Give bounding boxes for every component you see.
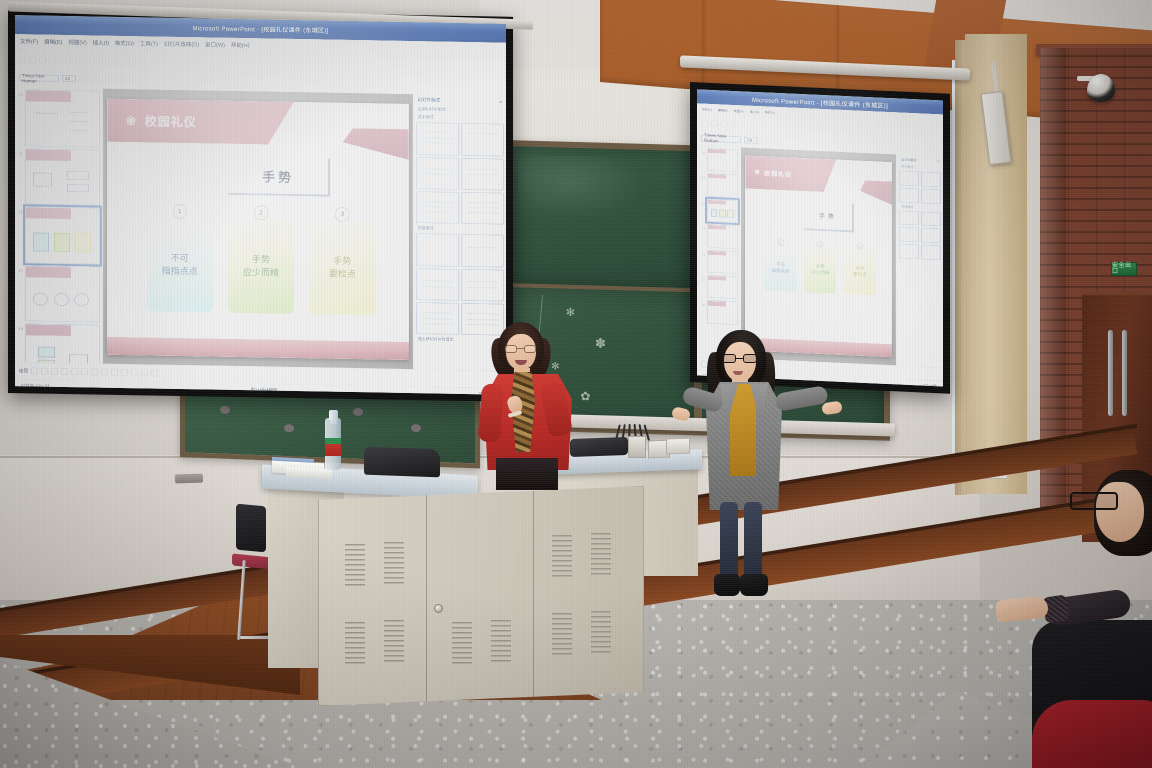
- door-handle-right-icon[interactable]: [1122, 330, 1127, 416]
- card-line-2: 应少而精: [811, 270, 829, 277]
- card-body-blue[interactable]: 不可 指指点点: [147, 217, 213, 312]
- projection-screen-left: Microsoft PowerPoint - [校园礼仪课件 (东城区)] 文件…: [8, 8, 513, 402]
- av-amplifier: [628, 436, 646, 458]
- task-pane-title: 幻灯片版式: [901, 157, 916, 162]
- thumbnail-number: 12: [699, 198, 705, 205]
- redo-icon[interactable]: [751, 122, 758, 129]
- new-file-icon[interactable]: [19, 56, 26, 63]
- thumbnail-number: 13: [17, 265, 23, 273]
- slide-thumbnail-pane[interactable]: 10 11 12: [697, 145, 741, 359]
- card-number-badge: 2: [254, 206, 269, 221]
- layout-option[interactable]: [921, 228, 941, 244]
- card-body-yellow[interactable]: 手势 要检点: [309, 220, 375, 315]
- thumbnail-number: 10: [17, 89, 23, 97]
- magnet-icon: [284, 424, 294, 432]
- rectangle-icon[interactable]: [61, 368, 68, 375]
- menu-item-tools[interactable]: 工具(T): [140, 40, 158, 48]
- cabinet-vent: [345, 622, 365, 664]
- thumbnail-row[interactable]: 11: [699, 173, 738, 198]
- exit-sign-label: 安全出口: [1112, 263, 1136, 275]
- ppt-workspace: 10 11: [15, 87, 506, 370]
- wall-hook-left: [175, 474, 203, 484]
- chalk-flower-icon: ✽: [595, 336, 606, 349]
- cabinet-vent: [591, 533, 611, 575]
- fill-color-icon[interactable]: [131, 369, 138, 376]
- left-leg-jeans: [720, 502, 738, 580]
- menu-item-file[interactable]: 文件(F): [20, 38, 38, 46]
- card-line-2: 指指点点: [162, 264, 198, 278]
- cabinet-vent: [345, 544, 365, 586]
- dark-skirt: [496, 458, 558, 490]
- task-pane-sublabel2-text: 内容版式: [899, 204, 941, 210]
- flower-logo-icon: ❀: [754, 169, 760, 176]
- chair-backrest: [236, 504, 266, 553]
- draw-menu-label[interactable]: 绘图: [19, 368, 28, 374]
- cabinet-vent: [452, 622, 472, 664]
- font-size-input[interactable]: 28: [744, 136, 758, 144]
- insert-chart-icon[interactable]: [139, 58, 146, 65]
- thumb-banner: [708, 250, 726, 255]
- wordart-icon[interactable]: [91, 369, 98, 376]
- chalk-smudge: [518, 155, 646, 224]
- magnet-icon: [220, 405, 230, 413]
- slide-card-1[interactable]: 1 不可 指指点点: [764, 242, 796, 292]
- slide-thumbnail[interactable]: [25, 90, 100, 148]
- thumbnail-row[interactable]: 16: [699, 300, 738, 325]
- cabinet-vent: [591, 611, 611, 653]
- textbox-icon[interactable]: [81, 368, 88, 375]
- thumb-banner: [708, 225, 726, 230]
- card-number-badge: 1: [172, 204, 187, 219]
- thumb-banner: [26, 149, 71, 161]
- cabinet-door-seam-1: [426, 487, 427, 705]
- menu-item-file[interactable]: 文件(F): [702, 108, 712, 112]
- cabinet-vent: [552, 613, 572, 655]
- slide-thumbnail[interactable]: [25, 324, 100, 364]
- thumbnail-number: 14: [17, 324, 23, 332]
- menu-item-insert[interactable]: 插入(I): [93, 39, 109, 47]
- card-line-2: 指指点点: [772, 268, 790, 275]
- slide-thumbnail[interactable]: [25, 265, 100, 323]
- slide-thumbnail[interactable]: [25, 148, 100, 206]
- left-boot: [714, 574, 740, 596]
- underline-icon[interactable]: [99, 76, 106, 83]
- exit-sign: 安全出口: [1111, 262, 1137, 276]
- layout-option[interactable]: [921, 245, 941, 261]
- diagram-icon[interactable]: [101, 369, 108, 376]
- thumb-banner: [708, 149, 726, 154]
- door-handle-left-icon[interactable]: [1108, 330, 1113, 416]
- flower-logo-icon: ❀: [125, 114, 136, 127]
- thumb-block: [67, 184, 89, 193]
- undo-icon[interactable]: [109, 57, 116, 64]
- thumb-banner: [708, 301, 726, 306]
- thumbnail-number: 12: [17, 207, 23, 215]
- close-icon[interactable]: ×: [937, 159, 939, 163]
- paste-icon[interactable]: [99, 57, 106, 64]
- current-slide[interactable]: ❀ 校园礼仪 手势 1 不可: [107, 98, 408, 359]
- slide-corner-swoosh: [860, 180, 892, 205]
- task-pane-section-label: 应用幻灯片版式:: [416, 106, 504, 114]
- layout-grid-text[interactable]: [416, 122, 504, 225]
- eyeglasses-icon: [1070, 492, 1118, 510]
- layout-option[interactable]: [921, 211, 941, 227]
- bullet-list-icon[interactable]: [139, 76, 146, 83]
- thumb-oval: [54, 293, 69, 306]
- new-file-icon[interactable]: [701, 120, 708, 127]
- thumb-banner: [708, 174, 726, 179]
- thumbnail-number: 11: [17, 148, 23, 156]
- menu-item-help[interactable]: 帮助(H): [231, 41, 250, 49]
- layout-option[interactable]: [461, 123, 504, 156]
- thumb-line: [70, 130, 88, 131]
- thumbnail-row[interactable]: 10: [699, 147, 738, 172]
- powerpoint-window-left: Microsoft PowerPoint - [校园礼仪课件 (东城区)] 文件…: [15, 15, 506, 395]
- thumb-block: [67, 171, 89, 181]
- slide-corner-swoosh: [342, 128, 408, 160]
- slide-card-2[interactable]: 2 手势 应少而精: [804, 244, 836, 294]
- layout-option[interactable]: [416, 122, 459, 155]
- thumbnail-row[interactable]: 14: [17, 324, 100, 364]
- right-leg-jeans: [744, 502, 762, 580]
- thumbnail-row[interactable]: 10: [17, 89, 100, 147]
- thumbnail-row[interactable]: 14: [699, 249, 738, 274]
- menu-item-format[interactable]: 格式(O): [765, 111, 775, 115]
- line-color-icon[interactable]: [141, 370, 148, 377]
- layout-option[interactable]: [461, 158, 504, 191]
- slide-thumbnail-pane[interactable]: 10 11: [15, 87, 103, 363]
- card-number-badge: 3: [335, 207, 350, 222]
- insert-table-icon[interactable]: [129, 58, 136, 65]
- oval-icon[interactable]: [71, 368, 78, 375]
- task-pane-title-bar: 幻灯片版式 ×: [416, 96, 504, 106]
- card-body-green[interactable]: 手势 应少而精: [228, 218, 294, 313]
- black-bag: [364, 447, 440, 478]
- font-name-input[interactable]: Times New Roman: [19, 74, 59, 82]
- thumbnail-row[interactable]: 13: [17, 265, 100, 323]
- card-body-green[interactable]: 手势 应少而精: [804, 247, 836, 294]
- slide-layout-task-pane[interactable]: 幻灯片版式 × 文字版式 内容版式: [896, 154, 943, 368]
- clipart-icon[interactable]: [111, 369, 118, 376]
- slide-edit-stage[interactable]: ❀ 校园礼仪 手势 1 不可: [103, 89, 412, 369]
- slide-card-1[interactable]: 1 不可 指指点点: [147, 212, 213, 313]
- menu-item-edit[interactable]: 编辑(E): [718, 108, 728, 112]
- layout-option[interactable]: [921, 171, 941, 187]
- slide-thumbnail[interactable]: [707, 275, 738, 300]
- eyeglasses-icon: [722, 354, 758, 363]
- task-pane-sublabel-text: 文字版式: [899, 164, 941, 170]
- slide-thumbnail[interactable]: [707, 148, 738, 173]
- spellcheck-icon[interactable]: [69, 57, 76, 64]
- font-size-input[interactable]: 28: [62, 75, 76, 82]
- layout-option[interactable]: [921, 188, 941, 204]
- task-pane-sublabel-text: 文字版式: [416, 114, 504, 122]
- menu-item-slideshow[interactable]: 幻灯片放映(D): [164, 40, 199, 49]
- layout-option[interactable]: [416, 302, 459, 335]
- cut-icon[interactable]: [79, 57, 86, 64]
- thumb-node: [38, 347, 56, 358]
- slide-title-text: 手势: [262, 166, 294, 186]
- shadow-icon[interactable]: [109, 76, 116, 83]
- slide-header-banner: ❀ 校园礼仪: [745, 155, 836, 192]
- podium-cabinet: [318, 486, 644, 706]
- card-line-1: 手势: [243, 253, 279, 267]
- ppt-title-text: Microsoft PowerPoint - [校园礼仪课件 (东城区)]: [192, 23, 328, 34]
- layout-option[interactable]: [461, 234, 504, 267]
- thumbnail-row[interactable]: 15: [699, 274, 738, 299]
- copy-icon[interactable]: [89, 57, 96, 64]
- thumbnail-number: 15: [699, 274, 705, 281]
- chalk-flower-icon: ✿: [580, 390, 590, 402]
- italic-icon[interactable]: [89, 75, 96, 82]
- card-body-blue[interactable]: 不可 指指点点: [764, 245, 796, 292]
- open-file-icon[interactable]: [29, 56, 36, 63]
- menu-item-view[interactable]: 视图(V): [68, 38, 86, 46]
- card-line-2: 要检点: [329, 267, 356, 281]
- cabinet-vent: [384, 542, 404, 584]
- thumb-line: [36, 113, 58, 114]
- layout-option[interactable]: [899, 187, 919, 203]
- card-body-yellow[interactable]: 手势 要检点: [844, 248, 876, 295]
- slide-card-3[interactable]: 3 手势 要检点: [844, 246, 876, 296]
- arrow-icon[interactable]: [51, 368, 58, 375]
- thumb-line: [70, 112, 88, 113]
- cabinet-door-seam-2: [533, 487, 534, 705]
- save-icon[interactable]: [39, 56, 46, 63]
- print-icon[interactable]: [731, 121, 738, 128]
- presenter-instructor: [482, 322, 578, 482]
- cabinet-vent: [552, 535, 572, 577]
- slide-thumbnail[interactable]: [707, 249, 738, 274]
- slide-title-box[interactable]: 手势: [228, 157, 330, 197]
- dome-camera-icon: [1087, 74, 1115, 102]
- menu-item-format[interactable]: 格式(O): [115, 39, 134, 47]
- thumb-oval: [33, 293, 48, 306]
- print-preview-icon[interactable]: [59, 56, 66, 63]
- status-language: 中文(中国): [923, 384, 937, 386]
- bold-icon[interactable]: [79, 75, 86, 82]
- right-boot: [740, 574, 768, 596]
- layout-grid-text[interactable]: [899, 170, 941, 204]
- chalkboard-panel-1: [511, 146, 694, 288]
- thumb-banner: [26, 266, 71, 278]
- italic-icon[interactable]: [771, 137, 778, 144]
- align-left-icon[interactable]: [119, 76, 126, 83]
- layout-option[interactable]: [899, 244, 919, 260]
- slide-card-group: 1 不可 指指点点 2: [147, 212, 376, 339]
- card-line-2: 要检点: [853, 272, 867, 279]
- align-center-icon[interactable]: [129, 76, 136, 83]
- thumb-banner: [26, 325, 71, 337]
- cabinet-vent: [491, 620, 511, 662]
- slide-thumbnail[interactable]: [707, 224, 738, 249]
- menu-item-insert[interactable]: 插入(I): [750, 110, 759, 114]
- audience-red-garment: [1032, 700, 1152, 768]
- thumb-card-green: [54, 233, 70, 252]
- presenter-demonstrator: [686, 330, 836, 620]
- lecture-hall-photo: 安全出口 ✻ ✽ ✻ ✿: [0, 0, 1152, 768]
- bold-icon[interactable]: [761, 137, 768, 144]
- picture-icon[interactable]: [121, 369, 128, 376]
- menu-item-view[interactable]: 视图(V): [734, 109, 744, 113]
- thumb-banner: [708, 276, 726, 281]
- layout-option[interactable]: [461, 192, 504, 225]
- layout-option[interactable]: [416, 157, 459, 190]
- cabinet-lock-icon[interactable]: [434, 604, 443, 613]
- slide-thumbnail-selected[interactable]: [25, 207, 100, 265]
- slide-header-banner: ❀ 校园礼仪: [107, 98, 294, 145]
- thumb-oval: [74, 293, 89, 306]
- menu-item-window[interactable]: 窗口(W): [205, 41, 225, 49]
- slide-brand-title: 校园礼仪: [145, 112, 197, 130]
- bottle-label-green-stripe: [325, 438, 341, 444]
- av-equipment-dark: [570, 437, 628, 457]
- thumb-banner: [708, 199, 726, 204]
- thumb-card-yellow: [74, 234, 90, 253]
- slide-thumbnail[interactable]: [707, 173, 738, 198]
- bottle-cap: [329, 410, 338, 420]
- card-line-1: 不可: [162, 251, 198, 265]
- slide-title-text: 手势: [819, 211, 837, 221]
- line-icon[interactable]: [41, 368, 48, 375]
- thumb-card-blue: [711, 209, 717, 217]
- slide-thumbnail-selected[interactable]: [707, 198, 738, 223]
- cabinet-vent: [384, 620, 404, 662]
- thumb-banner: [26, 208, 71, 220]
- layout-option[interactable]: [461, 269, 504, 302]
- font-color-icon[interactable]: [151, 370, 158, 377]
- thumb-block: [33, 172, 52, 187]
- save-icon[interactable]: [721, 121, 728, 128]
- thumbnail-row-selected[interactable]: 12: [17, 207, 100, 265]
- thumb-line: [70, 121, 88, 122]
- status-design-template: 默认设计模板: [251, 388, 278, 394]
- slide-footer-band: [107, 336, 408, 359]
- layout-grid-content[interactable]: [416, 233, 504, 336]
- chalk-flower-icon: ✻: [566, 308, 575, 319]
- print-icon[interactable]: [49, 56, 56, 63]
- card-line-2: 应少而精: [243, 266, 279, 280]
- thumbnail-number: 13: [699, 223, 705, 230]
- font-name-input[interactable]: Times New Roman: [701, 134, 741, 143]
- slide-thumbnail[interactable]: [707, 300, 738, 325]
- slide-card-group: 1 不可 指指点点 2: [764, 242, 876, 341]
- slide-card-2[interactable]: 2 手势 应少而精: [228, 213, 294, 314]
- slide-brand-title: 校园礼仪: [764, 168, 792, 178]
- status-slide-counter: 幻灯片 12 / 24: [21, 384, 50, 390]
- close-icon[interactable]: ×: [499, 99, 502, 104]
- thumb-banner: [26, 91, 71, 103]
- thumb-node: [69, 354, 88, 364]
- thumbnail-number: 16: [699, 300, 705, 307]
- thumbnail-number: 11: [699, 173, 705, 180]
- layout-option[interactable]: [899, 170, 919, 186]
- layout-option[interactable]: [416, 268, 459, 301]
- thumbnail-row[interactable]: 13: [699, 223, 738, 248]
- card-line-1: 手势: [329, 254, 356, 268]
- open-file-icon[interactable]: [711, 120, 718, 127]
- magnet-icon: [411, 424, 421, 432]
- layout-option[interactable]: [416, 191, 459, 224]
- layout-option[interactable]: [899, 227, 919, 243]
- task-pane-sublabel2-text: 内容版式: [416, 225, 504, 233]
- layout-option[interactable]: [899, 210, 919, 226]
- thumbnail-number: 14: [699, 249, 705, 256]
- right-arm-extended: [774, 385, 828, 412]
- current-slide[interactable]: ❀ 校园礼仪 手势 1 不可: [745, 155, 892, 357]
- task-pane-title: 幻灯片版式: [418, 97, 441, 103]
- audience-face: [1096, 482, 1144, 542]
- audience-member-foreground: [1002, 470, 1152, 768]
- layout-option[interactable]: [416, 233, 459, 266]
- menu-item-edit[interactable]: 编辑(E): [44, 38, 62, 46]
- slide-title-box[interactable]: 手势: [804, 201, 854, 233]
- magnet-icon: [353, 408, 363, 416]
- autoshapes-icon[interactable]: [31, 368, 38, 375]
- thumbnail-row[interactable]: 11: [17, 148, 100, 206]
- thumb-card-yellow: [727, 210, 733, 218]
- audience-hand-gesture: [995, 595, 1049, 622]
- thumb-card-green: [719, 210, 725, 218]
- thumb-card-blue: [33, 233, 49, 252]
- slide-card-3[interactable]: 3 手势 要检点: [309, 214, 375, 315]
- task-pane-title-bar: 幻灯片版式 ×: [899, 156, 941, 164]
- undo-icon[interactable]: [741, 122, 748, 129]
- redo-icon[interactable]: [119, 57, 126, 64]
- thumbnail-number: 10: [699, 147, 705, 154]
- layout-grid-content[interactable]: [899, 210, 941, 261]
- eyeglasses-icon: [505, 345, 537, 353]
- thumbnail-row-selected[interactable]: 12: [699, 198, 738, 223]
